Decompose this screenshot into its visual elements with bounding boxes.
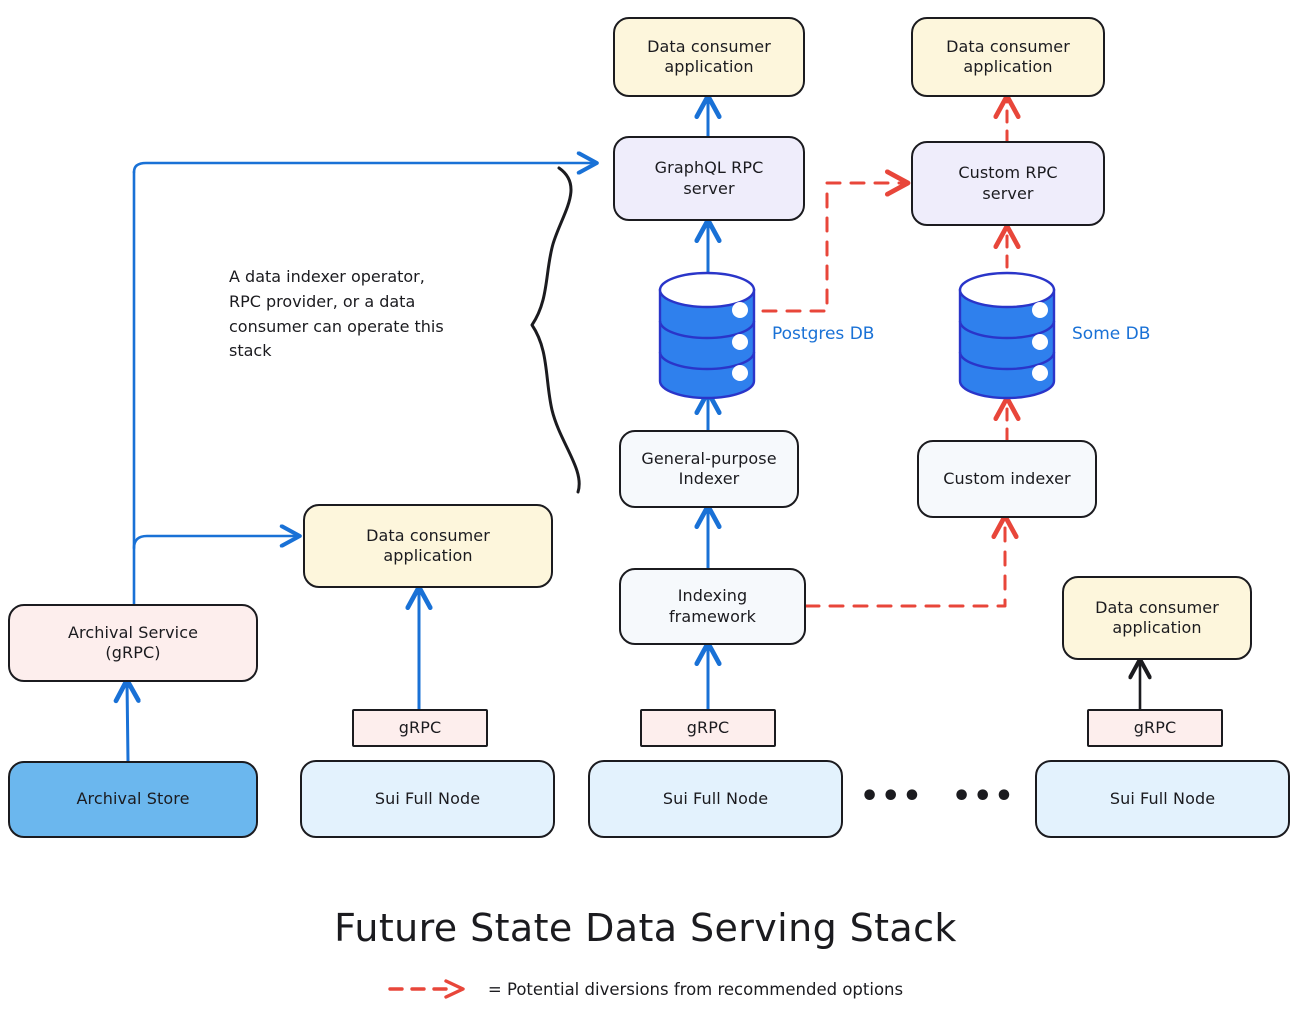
node-sui-full-node-center[interactable]: Sui Full Node (588, 760, 843, 838)
arrow-archival-to-consumer-left (134, 536, 298, 548)
node-data-consumer-application-custom[interactable]: Data consumer application (911, 17, 1105, 97)
diagram-canvas: Data consumer application Data consumer … (0, 0, 1291, 1018)
arrow-archival-to-graphql (134, 163, 595, 172)
dashed-red-arrow-icon (388, 978, 478, 1000)
page-title: Future State Data Serving Stack (0, 906, 1291, 950)
arrow-archival-store-to-service (127, 682, 128, 761)
node-archival-service[interactable]: Archival Service (gRPC) (8, 604, 258, 682)
node-data-consumer-application-graphql[interactable]: Data consumer application (613, 17, 805, 97)
node-grpc-center[interactable]: gRPC (640, 709, 776, 747)
node-archival-store[interactable]: Archival Store (8, 761, 258, 838)
node-general-purpose-indexer[interactable]: General-purpose Indexer (619, 430, 799, 508)
node-custom-rpc-server[interactable]: Custom RPC server (911, 141, 1105, 226)
postgres-db-cylinder (660, 273, 754, 398)
stack-operator-annotation: A data indexer operator, RPC provider, o… (229, 265, 519, 364)
node-sui-full-node-right[interactable]: Sui Full Node (1035, 760, 1290, 838)
ellipsis-left: ••• (860, 782, 924, 812)
node-indexing-framework[interactable]: Indexing framework (619, 568, 806, 645)
node-data-consumer-application-right[interactable]: Data consumer application (1062, 576, 1252, 660)
label-some-db: Some DB (1072, 324, 1150, 344)
ellipsis-right: ••• (952, 782, 1016, 812)
legend-text: = Potential diversions from recommended … (488, 980, 903, 999)
node-grpc-right[interactable]: gRPC (1087, 709, 1223, 747)
node-custom-indexer[interactable]: Custom indexer (917, 440, 1097, 518)
arrow-indexing-framework-to-custom-indexer (806, 518, 1005, 606)
node-sui-full-node-left[interactable]: Sui Full Node (300, 760, 555, 838)
legend: = Potential diversions from recommended … (0, 978, 1291, 1000)
node-graphql-rpc-server[interactable]: GraphQL RPC server (613, 136, 805, 221)
some-db-cylinder (960, 273, 1054, 398)
label-postgres-db: Postgres DB (772, 324, 874, 344)
curly-brace (532, 168, 579, 492)
node-grpc-left[interactable]: gRPC (352, 709, 488, 747)
node-data-consumer-application-left[interactable]: Data consumer application (303, 504, 553, 588)
